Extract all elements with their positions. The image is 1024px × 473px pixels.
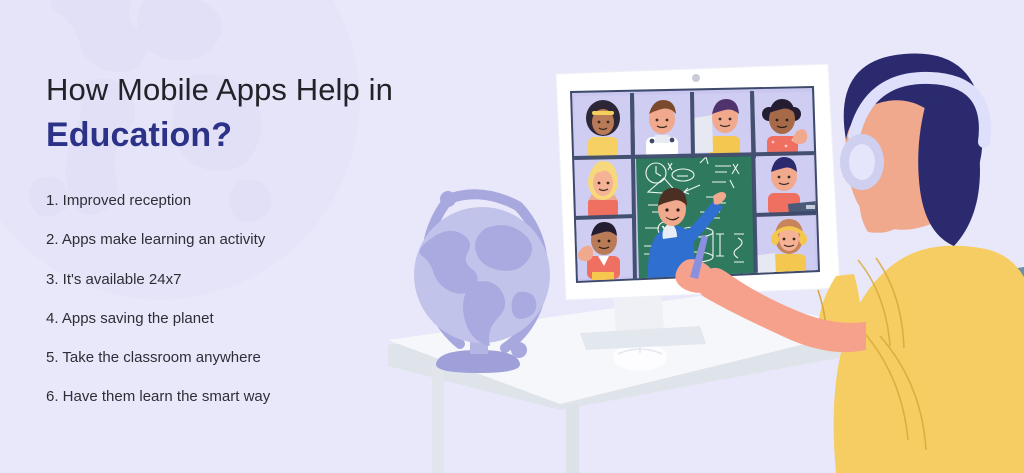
participant-tile-5 [575, 159, 632, 219]
participant-tile-1 [574, 95, 631, 159]
arm [698, 268, 866, 352]
waving-hand-icon [578, 246, 593, 261]
chalk-writing [644, 157, 744, 262]
monitor [556, 64, 840, 350]
participant-tile-teacher [636, 156, 755, 280]
webcam-icon [692, 74, 700, 82]
laptop [694, 115, 713, 153]
list-item: 3. It's available 24x7 [46, 270, 486, 290]
list-item: 5. Take the classroom anywhere [46, 348, 486, 368]
text-column: How Mobile Apps Help in Education? 1. Im… [46, 70, 486, 427]
mouse [613, 343, 667, 371]
list-item: 6. Have them learn the smart way [46, 387, 486, 407]
participant-tile-3 [694, 93, 751, 158]
participant-tile-8 [753, 215, 816, 278]
waving-hand-icon [793, 129, 807, 144]
shirt [834, 246, 1024, 473]
benefits-list: 1. Improved reception 2. Apps make learn… [46, 191, 486, 408]
education-banner: How Mobile Apps Help in Education? 1. Im… [0, 0, 1024, 473]
page-title-line2: Education? [46, 114, 486, 158]
video-call-grid [560, 80, 830, 295]
headphones-icon [840, 78, 985, 190]
list-item: 2. Apps make learning an activity [46, 230, 486, 250]
chair [944, 267, 1024, 473]
student [675, 54, 1024, 473]
pointing-hand [713, 192, 726, 205]
laptop [788, 201, 819, 215]
hair [844, 54, 983, 202]
list-item: 1. Improved reception [46, 191, 486, 211]
grid-dividers [572, 91, 818, 282]
headphones-icon [775, 228, 803, 234]
participant-tile-2 [634, 94, 691, 159]
participant-tile-4 [754, 92, 813, 158]
pen [690, 235, 708, 279]
laptop [753, 253, 776, 277]
list-item: 4. Apps saving the planet [46, 309, 486, 329]
hand [675, 259, 713, 293]
participant-tile-6 [576, 218, 633, 280]
teacher-avatar [648, 188, 726, 280]
blackboard [636, 156, 755, 280]
participant-tile-7 [755, 155, 819, 215]
page-title-line1: How Mobile Apps Help in [46, 70, 486, 110]
